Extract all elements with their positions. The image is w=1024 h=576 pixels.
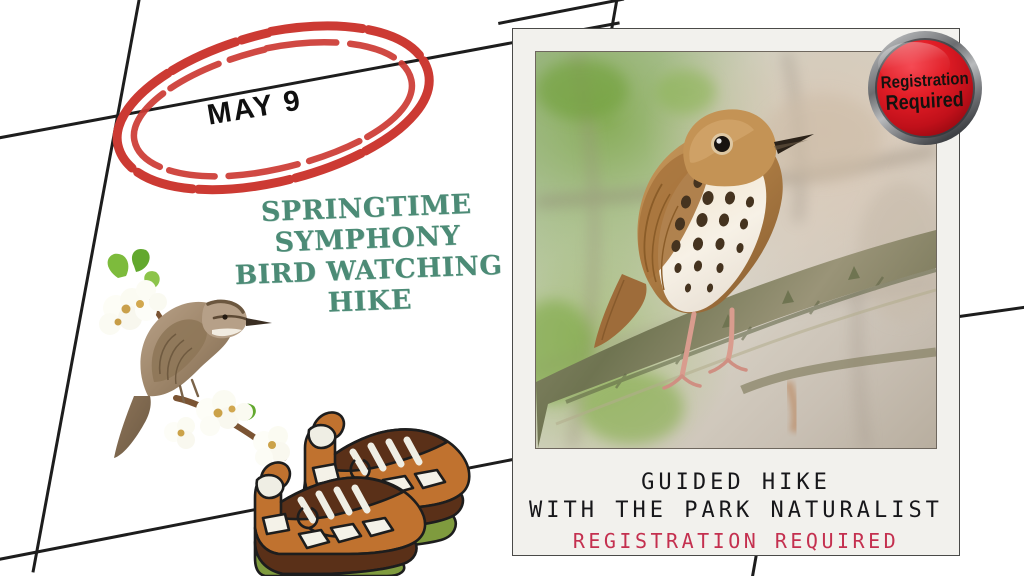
registration-required-badge[interactable]: Registration Required [866,28,984,148]
poster-canvas: MAY 9 SPRINGTIME SYMPHONY BIRD WATCHING … [0,0,1024,576]
polaroid-caption: GUIDED HIKE WITH THE PARK NATURALIST REG… [513,469,959,555]
hiking-boots-icon [255,368,510,576]
badge-line-2: Required [885,88,964,115]
caption-line-1: GUIDED HIKE [513,469,959,497]
caption-registration-required: REGISTRATION REQUIRED [513,527,959,555]
calendar-grid-line-v-above-polaroid [610,0,619,30]
calendar-grid-line-h-right [952,304,1024,319]
caption-line-2: WITH THE PARK NATURALIST [513,497,959,525]
calendar-grid-line-h-above-polaroid [498,0,624,25]
